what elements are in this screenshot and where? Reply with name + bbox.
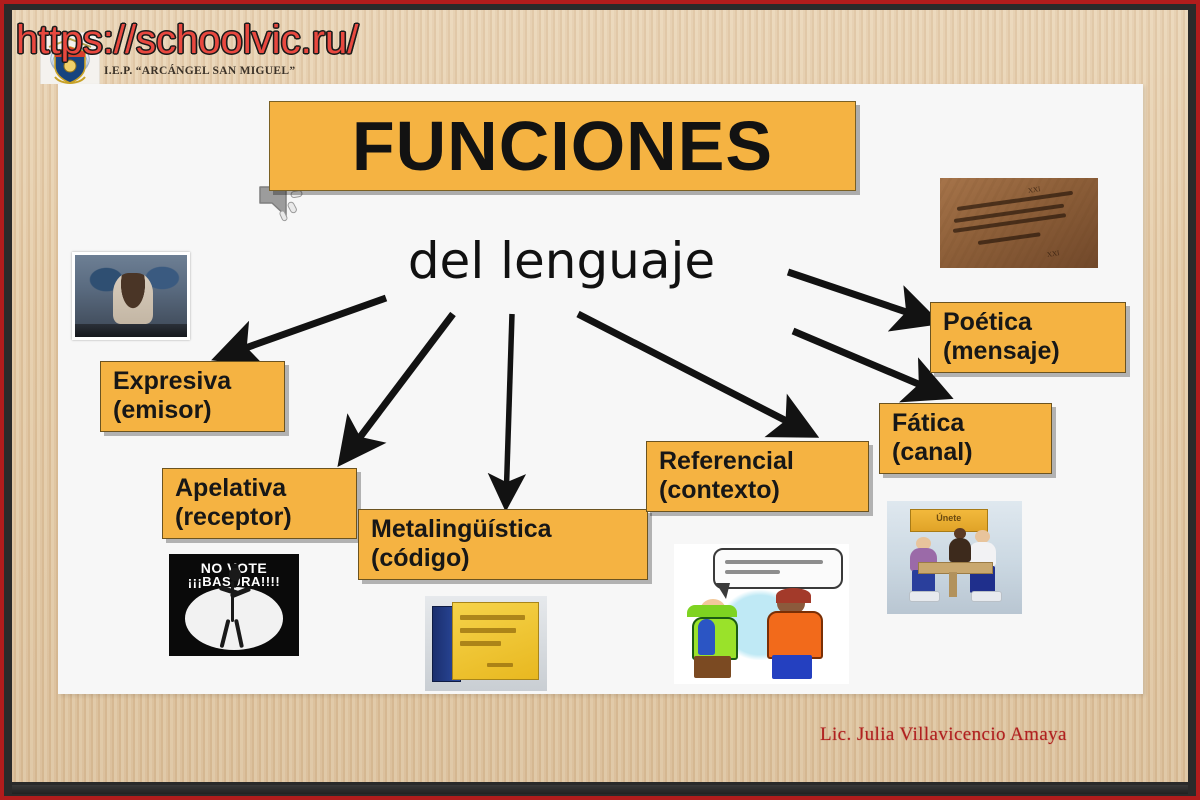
node-poetica[interactable]: Poética (mensaje) — [930, 302, 1126, 373]
node-fatica[interactable]: Fática (canal) — [879, 403, 1052, 474]
slide-canvas: XXI XXI NO VOTE ¡¡¡BASURA!!!! — [58, 84, 1143, 694]
school-name-label: I.E.P. “ARCÁNGEL SAN MIGUEL” — [104, 65, 295, 77]
arrow-to-referencial — [578, 314, 808, 432]
arrow-to-fatica — [793, 331, 942, 394]
node-expresiva[interactable]: Expresiva (emisor) — [100, 361, 285, 432]
classroom-students-photo — [72, 252, 190, 340]
parchment-poem-photo: XXI XXI — [940, 178, 1098, 268]
arrow-to-expresiva — [223, 298, 386, 356]
dictionary-book-photo — [425, 596, 547, 691]
author-signature: Lic. Julia Villavicencio Amaya — [820, 724, 1067, 746]
slide-screenshot: I.E.P. “ARCÁNGEL SAN MIGUEL” https://sch… — [0, 0, 1200, 800]
node-metalinguistica[interactable]: Metalingüística (código) — [358, 509, 648, 580]
page-title: FUNCIONES — [270, 102, 855, 190]
protest-poster-photo: NO VOTE ¡¡¡BASURA!!!! — [169, 554, 299, 656]
bottom-strip — [12, 785, 1188, 794]
node-referencial[interactable]: Referencial (contexto) — [646, 441, 869, 512]
students-at-table-photo: Únete — [887, 501, 1022, 614]
node-apelativa[interactable]: Apelativa (receptor) — [162, 468, 357, 539]
watermark-url: https://schoolvic.ru/ — [16, 18, 358, 63]
arrow-to-apelativa — [345, 314, 453, 457]
mesa-sign-text: Únete — [911, 510, 987, 527]
page-subtitle: del lenguaje — [269, 232, 854, 290]
arrow-to-metalinguistica — [506, 314, 512, 502]
title-banner: FUNCIONES — [269, 101, 856, 191]
two-people-talking-photo — [674, 544, 849, 684]
